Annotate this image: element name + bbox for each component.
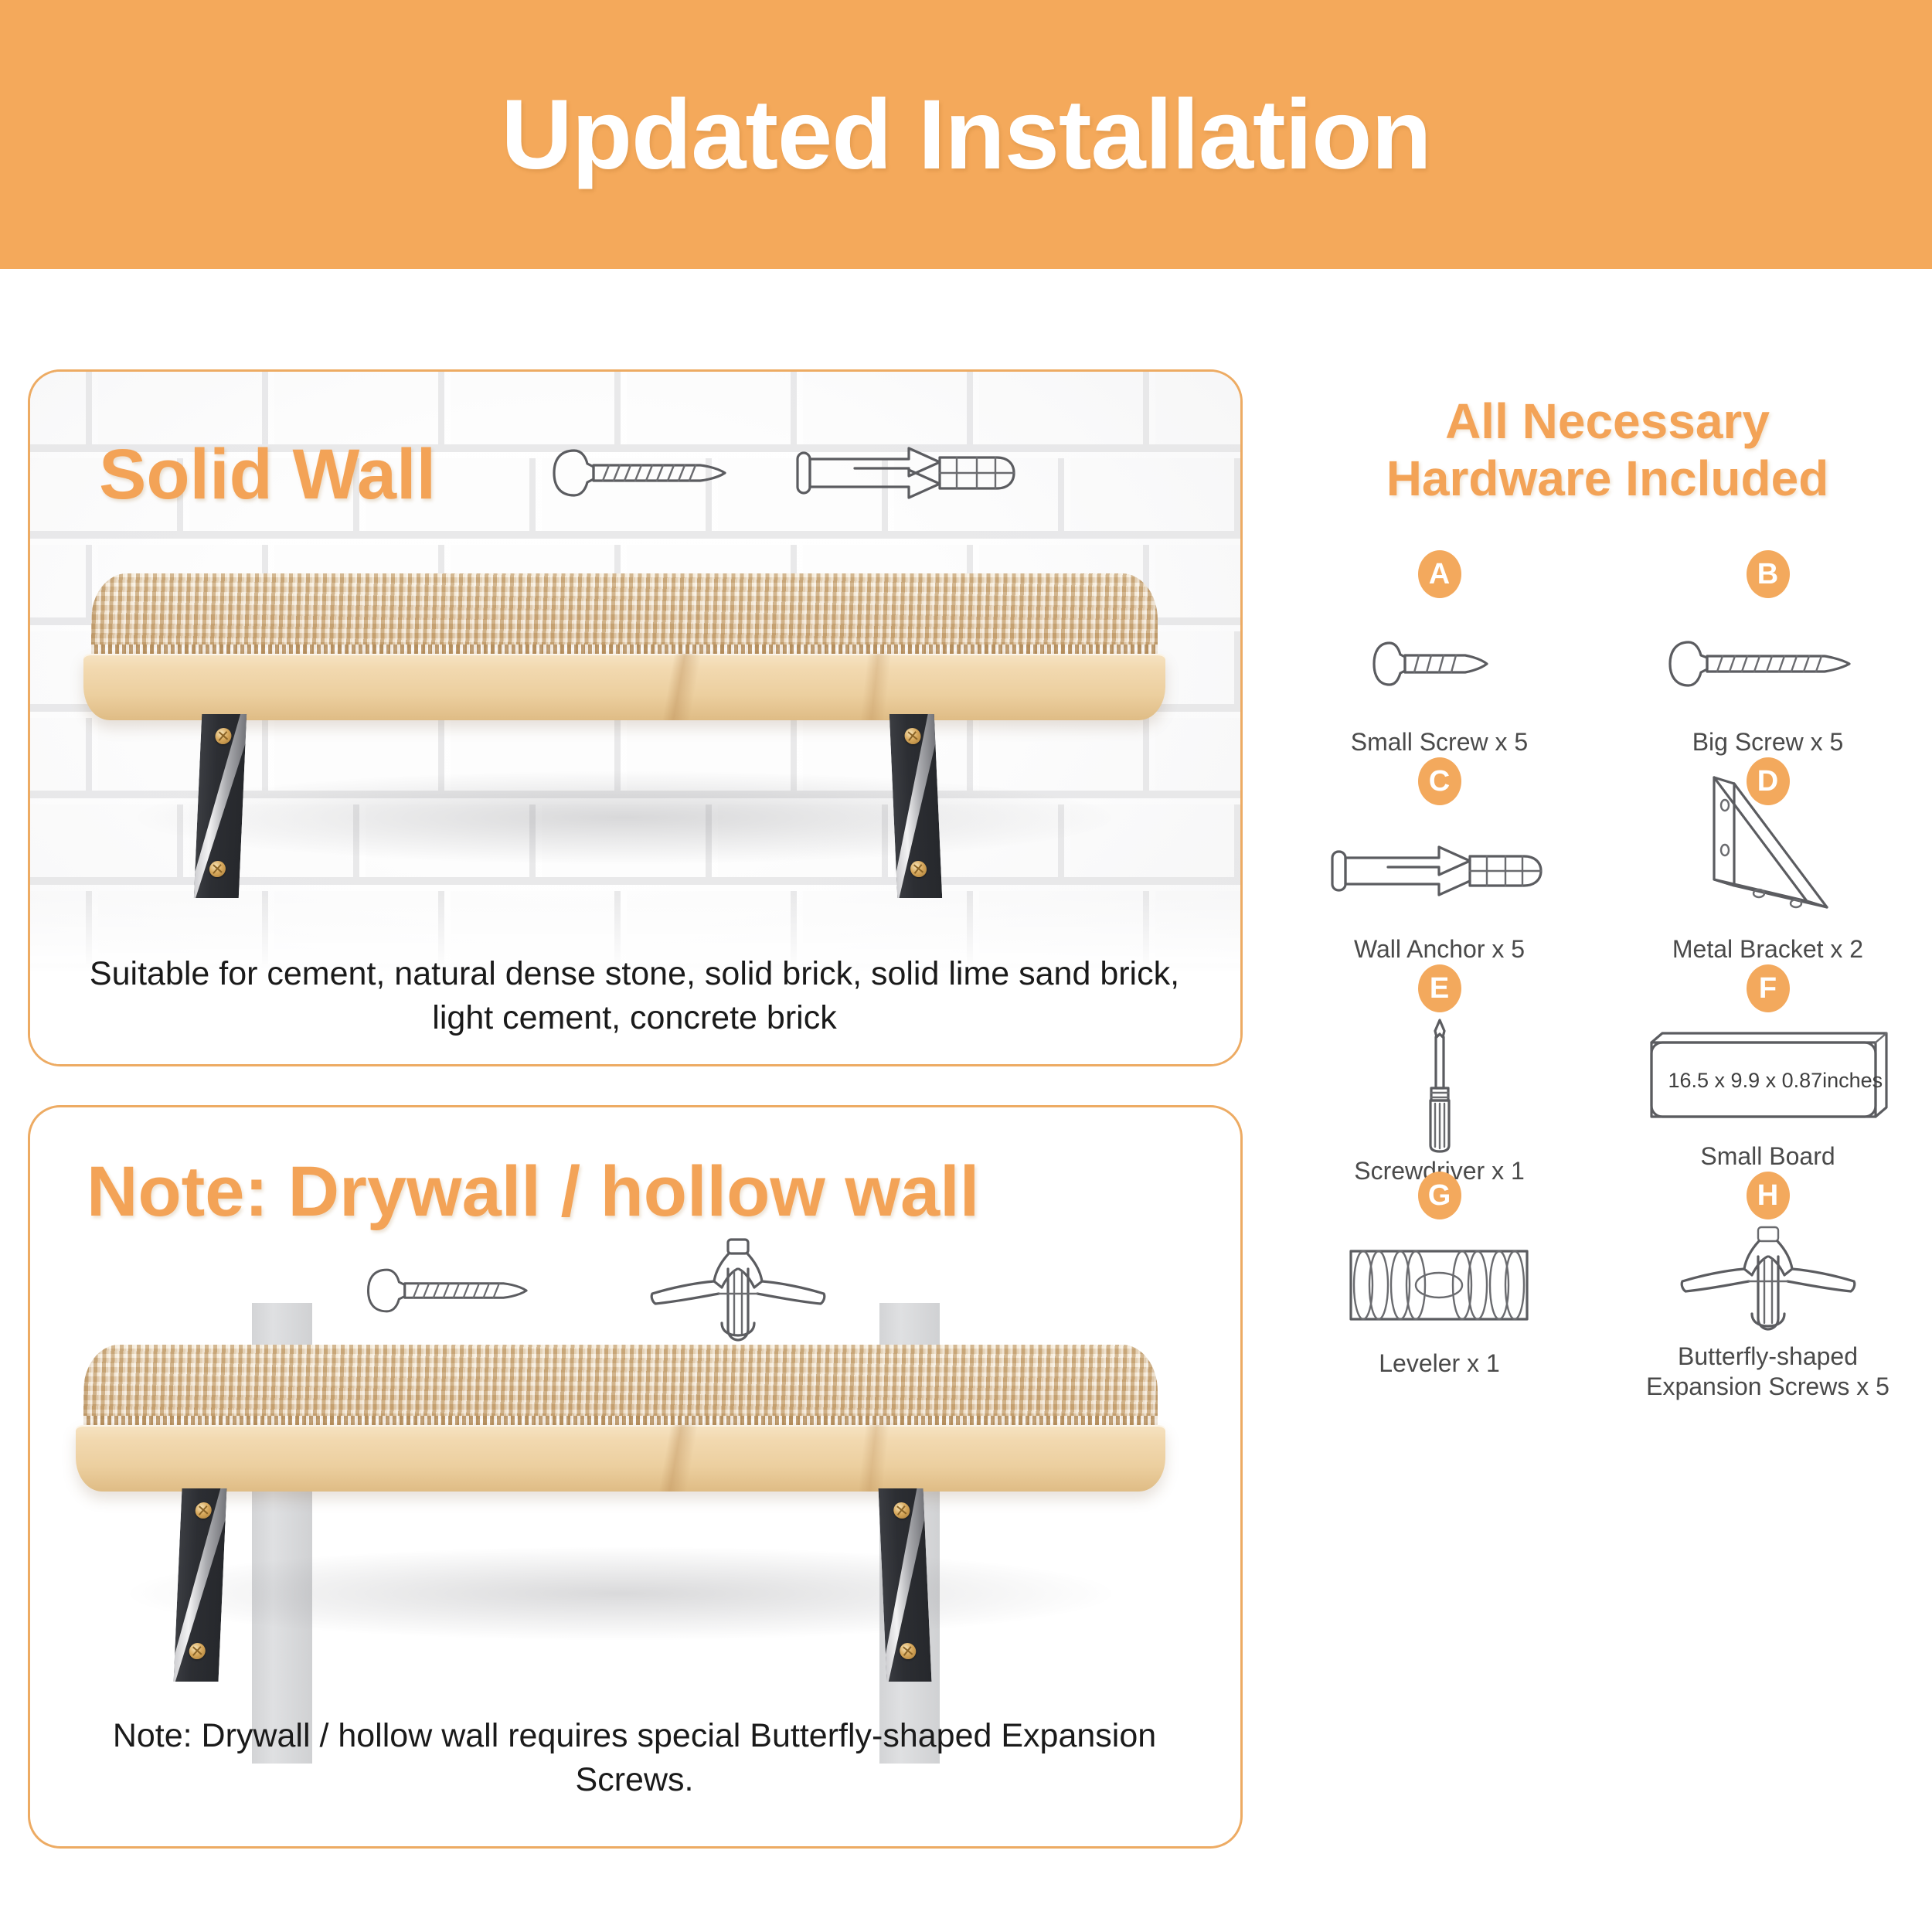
hardware-badge-b: B	[1747, 550, 1790, 598]
hardware-item-g: G Leveler x 1	[1275, 1172, 1604, 1379]
metal-bracket-left	[174, 1488, 227, 1682]
hardware-label-d: Metal Bracket x 2	[1672, 934, 1863, 964]
bracket-screw	[904, 728, 921, 744]
panel-solid-wall-caption: Suitable for cement, natural dense stone…	[66, 952, 1202, 1040]
hardware-badge-h: H	[1747, 1172, 1790, 1219]
product-shelf-drywall	[83, 1345, 1158, 1685]
hardware-item-a: A Small Screw x 5	[1275, 550, 1604, 757]
shelf-wood-edge	[83, 654, 1165, 720]
leveler-icon	[1275, 1219, 1604, 1349]
hardware-grid: A Small Screw x 5 B	[1275, 550, 1932, 1379]
screw-icon	[549, 442, 757, 504]
hardware-item-b: B Big Screw x 5	[1604, 550, 1932, 757]
page-title: Updated Installation	[501, 78, 1430, 192]
hardware-label-b: Big Screw x 5	[1692, 727, 1844, 757]
screw-icon	[363, 1260, 556, 1321]
hardware-label-h: Butterfly-shaped Expansion Screws x 5	[1646, 1342, 1889, 1402]
hardware-badge-a: A	[1418, 550, 1461, 598]
panel-drywall-heading: Note: Drywall / hollow wall	[87, 1151, 979, 1233]
butterfly-anchor-icon	[1604, 1219, 1932, 1342]
hardware-title-line2: Hardware Included	[1283, 450, 1932, 507]
metal-bracket-left	[194, 714, 247, 898]
hardware-item-h: H Butterfly-shaped Expansion Screws x 5	[1604, 1172, 1932, 1379]
hardware-badge-g: G	[1418, 1172, 1461, 1219]
small-board-icon: 16.5 x 9.9 x 0.87inches	[1604, 1012, 1932, 1141]
small-screw-icon	[1275, 598, 1604, 727]
wall-anchor-icon	[793, 442, 1025, 504]
butterfly-anchor-icon	[641, 1236, 835, 1345]
hardware-section-title: All Necessary Hardware Included	[1283, 393, 1932, 507]
board-dimension-text: 16.5 x 9.9 x 0.87inches	[1668, 1069, 1883, 1093]
metal-bracket-right	[879, 1488, 932, 1682]
hardware-badge-d: D	[1747, 757, 1790, 805]
metal-bracket-right	[889, 714, 942, 898]
big-screw-icon	[1604, 598, 1932, 727]
bracket-screw	[910, 861, 927, 877]
shelf-drop-shadow	[138, 771, 1111, 864]
shelf-drop-shadow	[130, 1547, 1111, 1640]
bracket-screw	[893, 1502, 910, 1519]
hardware-badge-e: E	[1418, 964, 1461, 1012]
wood-grain	[83, 654, 1165, 720]
shelf-woven-top	[83, 1345, 1158, 1436]
hardware-item-e: E Screwdriver x 1	[1275, 964, 1604, 1172]
panel-drywall-caption: Note: Drywall / hollow wall requires spe…	[66, 1714, 1202, 1802]
wall-anchor-icon	[1275, 805, 1604, 934]
solid-wall-fastener-icons	[549, 442, 1025, 504]
bracket-screw	[900, 1643, 917, 1659]
shelf-wood-edge	[76, 1425, 1165, 1492]
hardware-badge-c: C	[1418, 757, 1461, 805]
hardware-badge-f: F	[1747, 964, 1790, 1012]
hardware-label-a: Small Screw x 5	[1351, 727, 1528, 757]
hardware-item-f: F 16.5 x 9.9 x 0.87inches Small Board	[1604, 964, 1932, 1172]
shelf-woven-top	[91, 573, 1158, 665]
product-shelf-solid-wall	[91, 573, 1158, 898]
wood-grain	[76, 1425, 1165, 1492]
header-banner: Updated Installation	[0, 0, 1932, 269]
panel-solid-wall-heading: Solid Wall	[99, 434, 436, 515]
drywall-fastener-icons	[363, 1236, 835, 1345]
hardware-item-d: D Metal Bracket x 2	[1604, 757, 1932, 964]
hardware-label-g: Leveler x 1	[1379, 1349, 1500, 1379]
screwdriver-icon	[1275, 1012, 1604, 1156]
hardware-item-c: C Wall Anchor x 5	[1275, 757, 1604, 964]
hardware-title-line1: All Necessary	[1283, 393, 1932, 450]
hardware-label-c: Wall Anchor x 5	[1354, 934, 1525, 964]
hardware-label-f: Small Board	[1700, 1141, 1835, 1172]
